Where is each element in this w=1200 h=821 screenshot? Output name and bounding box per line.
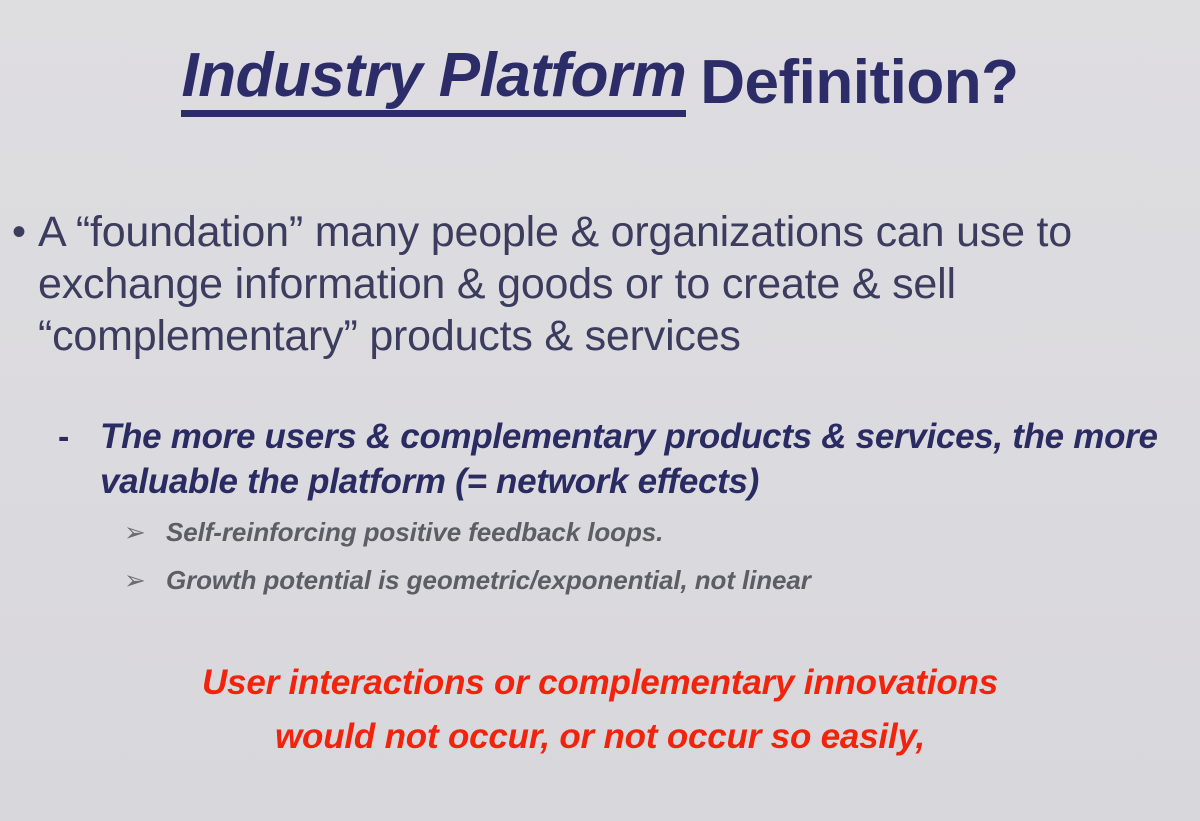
level1-bullet-item: • A “foundation” many people & organizat…: [12, 206, 1187, 362]
emphasis-callout: User interactions or complementary innov…: [0, 656, 1200, 764]
slide-title: Industry PlatformDefinition?: [0, 44, 1200, 117]
emphasis-line: User interactions or complementary innov…: [0, 656, 1200, 710]
level3-bullet-text: Self-reinforcing positive feedback loops…: [166, 515, 663, 549]
level3-bullet-item: ➢ Self-reinforcing positive feedback loo…: [124, 515, 663, 549]
level1-bullet-text: A “foundation” many people & organizatio…: [38, 206, 1187, 362]
title-emphasis-text: Industry Platform: [181, 44, 686, 117]
arrow-bullet-icon: ➢: [124, 563, 166, 597]
level2-bullet-text: The more users & complementary products …: [100, 414, 1200, 504]
level2-bullet-item: - The more users & complementary product…: [58, 414, 1200, 504]
arrow-bullet-icon: ➢: [124, 515, 166, 549]
title-plain-text: Definition?: [700, 51, 1018, 117]
level3-bullet-item: ➢ Growth potential is geometric/exponent…: [124, 563, 811, 597]
presentation-slide: Industry PlatformDefinition? • A “founda…: [0, 0, 1200, 821]
level3-bullet-text: Growth potential is geometric/exponentia…: [166, 563, 811, 597]
dash-bullet-icon: -: [58, 414, 100, 460]
bullet-dot-icon: •: [12, 206, 38, 258]
emphasis-line: would not occur, or not occur so easily,: [0, 710, 1200, 764]
